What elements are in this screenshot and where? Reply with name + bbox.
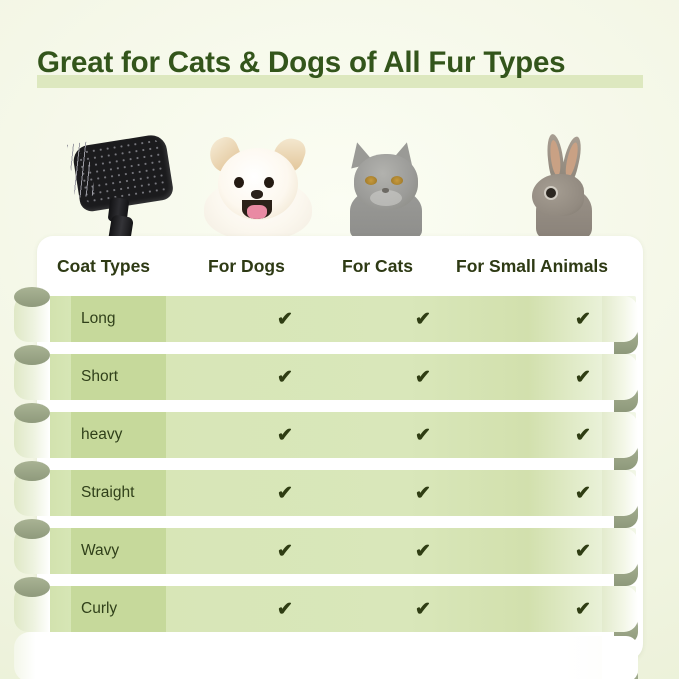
check-for-cats: ✔ <box>411 586 435 632</box>
ribbon-fold-left <box>14 287 50 307</box>
coat-type-label: Straight <box>81 470 134 516</box>
rabbit-photo: Grey brown rabbit with tall ears <box>520 124 616 240</box>
check-for-dogs: ✔ <box>273 296 297 342</box>
dog-eye-left <box>234 177 244 188</box>
table-header-row: Coat Types For Dogs For Cats For Small A… <box>37 236 643 296</box>
column-header-for-small-animals: For Small Animals <box>456 256 608 277</box>
ribbon-fold-left-body <box>14 632 50 679</box>
rabbit-eye <box>546 188 556 198</box>
coat-type-label: Long <box>81 296 115 342</box>
rabbit-head <box>532 174 584 216</box>
check-for-small-animals: ✔ <box>571 470 595 516</box>
page-title-text: Great for Cats & Dogs of All Fur Types <box>37 44 643 82</box>
rabbit-ear-inner-left <box>549 140 562 177</box>
table-footer-ribbon <box>14 636 651 679</box>
check-for-dogs: ✔ <box>273 470 297 516</box>
column-header-coat-types: Coat Types <box>57 256 150 277</box>
dog-mouth <box>242 200 272 219</box>
ribbon-fold-left <box>14 345 50 365</box>
coat-type-label: heavy <box>81 412 122 458</box>
cat-photo: Grey shorthair cat sitting <box>332 128 440 240</box>
ribbon-fold-left <box>14 577 50 597</box>
table-row: heavy ✔ ✔ ✔ <box>14 412 651 458</box>
check-for-small-animals: ✔ <box>571 586 595 632</box>
infographic-root: Great for Cats & Dogs of All Fur Types P… <box>0 0 679 679</box>
check-for-small-animals: ✔ <box>571 296 595 342</box>
coat-type-label: Wavy <box>81 528 119 574</box>
check-for-cats: ✔ <box>411 354 435 400</box>
ribbon-fold-right-body <box>602 636 638 679</box>
check-for-cats: ✔ <box>411 296 435 342</box>
cat-eye-left <box>365 176 377 185</box>
page-title: Great for Cats & Dogs of All Fur Types <box>37 44 643 88</box>
dog-photo: Cream Pomeranian dog smiling <box>196 130 320 240</box>
table-row: Long ✔ ✔ ✔ <box>14 296 651 342</box>
ribbon-band <box>36 636 636 679</box>
ribbon-fold-right-body <box>602 470 638 516</box>
coat-type-label: Curly <box>81 586 117 632</box>
cat-eye-right <box>391 176 403 185</box>
check-for-cats: ✔ <box>411 528 435 574</box>
slicker-brush-icon: Purple and black slicker pet grooming br… <box>66 136 194 240</box>
check-for-cats: ✔ <box>411 412 435 458</box>
coat-type-label: Short <box>81 354 118 400</box>
ribbon-fold-left <box>14 519 50 539</box>
ribbon-fold-left <box>14 461 50 481</box>
check-for-small-animals: ✔ <box>571 412 595 458</box>
check-for-dogs: ✔ <box>273 586 297 632</box>
check-for-dogs: ✔ <box>273 354 297 400</box>
table-row: Short ✔ ✔ ✔ <box>14 354 651 400</box>
table-row: Curly ✔ ✔ ✔ <box>14 586 651 632</box>
ribbon-fold-right-body <box>602 354 638 400</box>
table-row: Wavy ✔ ✔ ✔ <box>14 528 651 574</box>
check-for-dogs: ✔ <box>273 528 297 574</box>
check-for-small-animals: ✔ <box>571 528 595 574</box>
ribbon-fold-left <box>14 403 50 423</box>
column-header-for-cats: For Cats <box>342 256 413 277</box>
ribbon-fold-right-body <box>602 528 638 574</box>
rabbit-ear-inner-right <box>563 141 580 178</box>
dog-nose <box>251 190 263 199</box>
table-body: Long ✔ ✔ ✔ Short ✔ ✔ ✔ heavy ✔ ✔ <box>0 296 679 679</box>
ribbon-fold-right-body <box>602 586 638 632</box>
cat-nose <box>382 188 389 193</box>
ribbon-fold-right-body <box>602 412 638 458</box>
hero-image-strip: Purple and black slicker pet grooming br… <box>0 112 679 240</box>
ribbon-fold-right-body <box>602 296 638 342</box>
dog-eye-right <box>264 177 274 188</box>
check-for-dogs: ✔ <box>273 412 297 458</box>
check-for-cats: ✔ <box>411 470 435 516</box>
check-for-small-animals: ✔ <box>571 354 595 400</box>
dog-tongue <box>247 205 267 219</box>
column-header-for-dogs: For Dogs <box>208 256 285 277</box>
table-row: Straight ✔ ✔ ✔ <box>14 470 651 516</box>
